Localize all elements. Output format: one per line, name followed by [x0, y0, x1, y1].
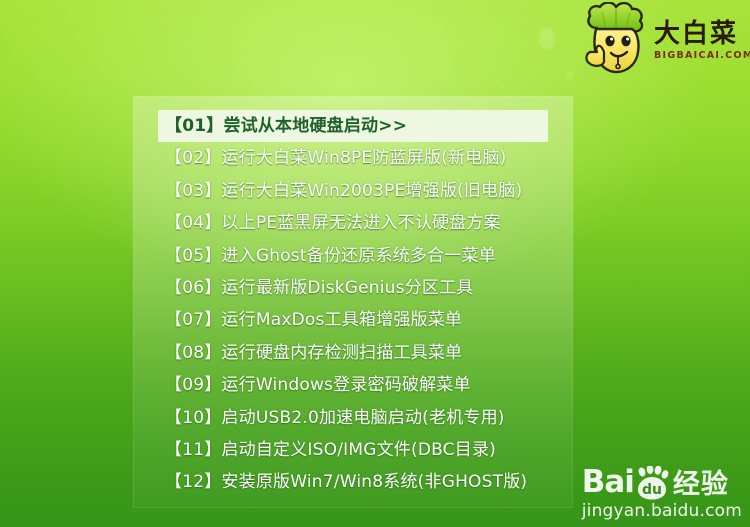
- menu-item-07[interactable]: 【07】运行MaxDos工具箱增强版菜单: [158, 304, 548, 336]
- light-bubble-icon: [500, 84, 505, 89]
- menu-item-06[interactable]: 【06】运行最新版DiskGenius分区工具: [158, 272, 548, 304]
- menu-item-10[interactable]: 【10】启动USB2.0加速电脑启动(老机专用): [158, 402, 548, 434]
- baidu-paw-icon: du: [634, 466, 670, 500]
- brand-text: 大白菜 BIGBAICAI.COM: [654, 21, 750, 61]
- light-bubble-icon: [566, 70, 574, 78]
- boot-menu-panel: 【01】尝试从本地硬盘启动>> 【02】运行大白菜Win8PE防蓝屏版(新电脑)…: [133, 96, 573, 508]
- boot-menu-screen: 大白菜 BIGBAICAI.COM 【01】尝试从本地硬盘启动>> 【02】运行…: [0, 0, 750, 527]
- brand-url: BIGBAICAI.COM: [654, 51, 750, 61]
- menu-item-12[interactable]: 【12】安装原版Win7/Win8系统(非GHOST版): [158, 466, 548, 498]
- menu-item-09[interactable]: 【09】运行Windows登录密码破解菜单: [158, 369, 548, 401]
- brand-logo: 大白菜 BIGBAICAI.COM: [578, 0, 750, 82]
- menu-item-01[interactable]: 【01】尝试从本地硬盘启动>>: [158, 110, 548, 142]
- baidu-wordmark: Bai du 经验: [582, 466, 742, 498]
- baidu-bai-text: Bai: [582, 467, 634, 498]
- cabbage-mascot-icon: [580, 2, 652, 80]
- menu-item-11[interactable]: 【11】启动自定义ISO/IMG文件(DBC目录): [158, 434, 548, 466]
- baidu-jingyan-watermark: Bai du 经验 jingyan.baidu.com: [582, 466, 742, 521]
- boot-menu-list[interactable]: 【01】尝试从本地硬盘启动>> 【02】运行大白菜Win8PE防蓝屏版(新电脑)…: [133, 96, 573, 508]
- baidu-jingyan-text: 经验: [673, 471, 729, 498]
- brand-name-cn: 大白菜: [654, 21, 750, 47]
- baidu-url-text: jingyan.baidu.com: [582, 501, 742, 521]
- light-bubble-icon: [539, 28, 555, 50]
- menu-item-04[interactable]: 【04】以上PE蓝黑屏无法进入不认硬盘方案: [158, 207, 548, 239]
- menu-item-05[interactable]: 【05】进入Ghost备份还原系统多合一菜单: [158, 240, 548, 272]
- menu-item-03[interactable]: 【03】运行大白菜Win2003PE增强版(旧电脑): [158, 175, 548, 207]
- svg-text:du: du: [642, 482, 662, 498]
- menu-item-02[interactable]: 【02】运行大白菜Win8PE防蓝屏版(新电脑): [158, 142, 548, 174]
- menu-item-08[interactable]: 【08】运行硬盘内存检测扫描工具菜单: [158, 337, 548, 369]
